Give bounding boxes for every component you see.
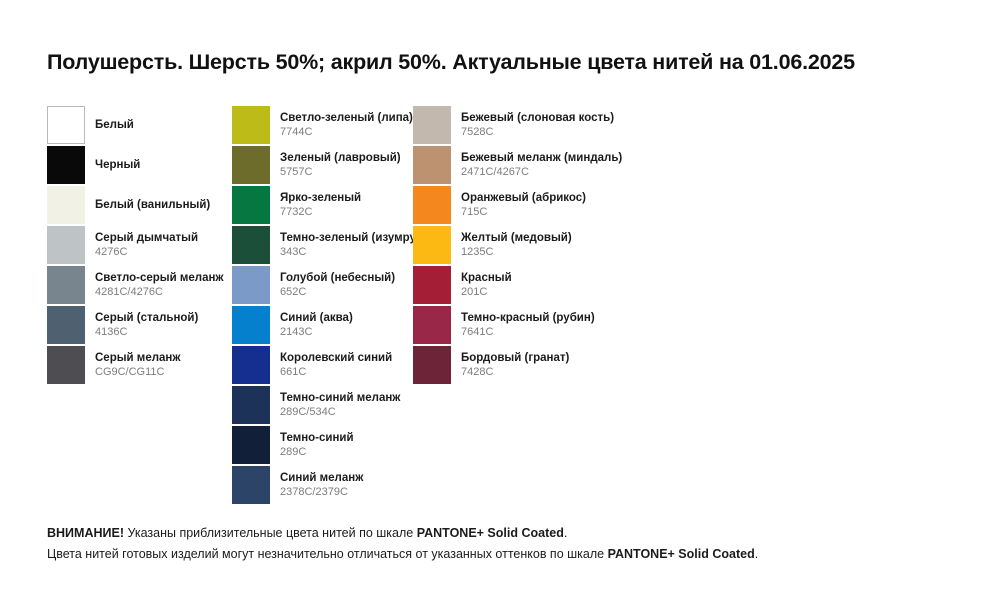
color-swatch: [47, 226, 85, 264]
color-swatch: [232, 386, 270, 424]
footer-line-2-text: Цвета нитей готовых изделий могут незнач…: [47, 547, 608, 561]
color-name: Серый дымчатый: [95, 231, 198, 245]
color-name: Синий (аква): [280, 311, 353, 325]
color-swatch: [232, 306, 270, 344]
swatch-labels: Светло-серый меланж4281C/4276C: [95, 266, 224, 304]
footer-pantone-label-2: PANTONE+ Solid Coated: [608, 547, 755, 561]
swatch-labels: Желтый (медовый)1235C: [461, 226, 572, 264]
swatch-labels: Белый: [95, 106, 134, 144]
pantone-code: 7528C: [461, 126, 614, 139]
color-name: Ярко-зеленый: [280, 191, 361, 205]
pantone-code: 1235C: [461, 246, 572, 259]
color-name: Темно-красный (рубин): [461, 311, 595, 325]
color-name: Голубой (небесный): [280, 271, 395, 285]
color-name: Бежевый меланж (миндаль): [461, 151, 622, 165]
swatch-labels: Серый дымчатый4276C: [95, 226, 198, 264]
color-swatch: [47, 106, 85, 144]
swatch-labels: Бежевый меланж (миндаль)2471C/4267C: [461, 146, 622, 184]
color-name: Белый (ванильный): [95, 198, 210, 212]
pantone-code: 2378C/2379C: [280, 486, 363, 499]
swatch-labels: Бордовый (гранат)7428C: [461, 346, 569, 384]
footer-line-1-text: Указаны приблизительные цвета нитей по ш…: [124, 526, 417, 540]
color-swatch: [47, 306, 85, 344]
color-swatch: [47, 186, 85, 224]
pantone-code: 201C: [461, 286, 512, 299]
footer-line-1: ВНИМАНИЕ! Указаны приблизительные цвета …: [47, 523, 947, 544]
swatch-labels: Светло-зеленый (липа)7744C: [280, 106, 413, 144]
pantone-code: 2471C/4267C: [461, 166, 622, 179]
swatch-labels: Королевский синий661C: [280, 346, 392, 384]
color-swatch: [232, 266, 270, 304]
pantone-code: 715C: [461, 206, 586, 219]
pantone-code: 289C: [280, 446, 354, 459]
swatch-labels: Синий (аква)2143C: [280, 306, 353, 344]
swatch-labels: Темно-красный (рубин)7641C: [461, 306, 595, 344]
pantone-code: 7428C: [461, 366, 569, 379]
pantone-code: 4136C: [95, 326, 198, 339]
footer-line-2: Цвета нитей готовых изделий могут незнач…: [47, 544, 947, 565]
color-name: Оранжевый (абрикос): [461, 191, 586, 205]
color-chart-page: Полушерсть. Шерсть 50%; акрил 50%. Актуа…: [0, 0, 1000, 609]
color-swatch: [232, 226, 270, 264]
color-swatch: [232, 346, 270, 384]
swatch-labels: Оранжевый (абрикос)715C: [461, 186, 586, 224]
swatch-labels: Белый (ванильный): [95, 186, 210, 224]
color-swatch: [47, 266, 85, 304]
color-name: Серый меланж: [95, 351, 181, 365]
color-name: Темно-синий: [280, 431, 354, 445]
swatch-labels: Ярко-зеленый7732C: [280, 186, 361, 224]
color-name: Бежевый (слоновая кость): [461, 111, 614, 125]
pantone-code: CG9C/CG11C: [95, 366, 181, 379]
color-name: Зеленый (лавровый): [280, 151, 401, 165]
color-name: Белый: [95, 118, 134, 132]
color-name: Светло-серый меланж: [95, 271, 224, 285]
color-swatch: [232, 426, 270, 464]
pantone-code: 7744C: [280, 126, 413, 139]
footer-attention-label: ВНИМАНИЕ!: [47, 526, 124, 540]
color-swatch: [413, 266, 451, 304]
color-swatch: [413, 346, 451, 384]
color-swatch: [413, 226, 451, 264]
pantone-code: 661C: [280, 366, 392, 379]
pantone-code: 652C: [280, 286, 395, 299]
pantone-code: 343C: [280, 246, 427, 259]
footer-pantone-label-1: PANTONE+ Solid Coated: [417, 526, 564, 540]
color-swatch: [413, 186, 451, 224]
color-swatch: [232, 466, 270, 504]
pantone-code: 7641C: [461, 326, 595, 339]
footer-line-2-end: .: [755, 547, 758, 561]
footer-line-1-end: .: [564, 526, 567, 540]
color-swatch: [47, 346, 85, 384]
swatch-labels: Красный201C: [461, 266, 512, 304]
color-name: Темно-синий меланж: [280, 391, 400, 405]
swatch-labels: Синий меланж2378C/2379C: [280, 466, 363, 504]
color-name: Светло-зеленый (липа): [280, 111, 413, 125]
swatch-labels: Бежевый (слоновая кость)7528C: [461, 106, 614, 144]
color-name: Бордовый (гранат): [461, 351, 569, 365]
color-swatch: [47, 146, 85, 184]
color-swatch: [232, 186, 270, 224]
swatch-labels: Зеленый (лавровый)5757C: [280, 146, 401, 184]
color-name: Синий меланж: [280, 471, 363, 485]
color-swatch: [413, 106, 451, 144]
swatch-labels: Серый (стальной)4136C: [95, 306, 198, 344]
color-name: Желтый (медовый): [461, 231, 572, 245]
pantone-code: 7732C: [280, 206, 361, 219]
color-swatch: [232, 146, 270, 184]
color-name: Серый (стальной): [95, 311, 198, 325]
color-swatch: [413, 306, 451, 344]
pantone-code: 5757C: [280, 166, 401, 179]
color-name: Черный: [95, 158, 140, 172]
color-name: Темно-зеленый (изумруд): [280, 231, 427, 245]
swatch-labels: Темно-синий289C: [280, 426, 354, 464]
color-swatch: [232, 106, 270, 144]
swatch-labels: Темно-зеленый (изумруд)343C: [280, 226, 427, 264]
color-name: Красный: [461, 271, 512, 285]
pantone-code: 2143C: [280, 326, 353, 339]
pantone-code: 4281C/4276C: [95, 286, 224, 299]
swatch-labels: Темно-синий меланж289C/534C: [280, 386, 400, 424]
swatch-labels: Голубой (небесный)652C: [280, 266, 395, 304]
pantone-code: 289C/534C: [280, 406, 400, 419]
swatch-labels: Черный: [95, 146, 140, 184]
footer-notes: ВНИМАНИЕ! Указаны приблизительные цвета …: [47, 523, 947, 565]
pantone-code: 4276C: [95, 246, 198, 259]
color-name: Королевский синий: [280, 351, 392, 365]
color-swatch: [413, 146, 451, 184]
page-title: Полушерсть. Шерсть 50%; акрил 50%. Актуа…: [47, 50, 855, 75]
swatch-labels: Серый меланжCG9C/CG11C: [95, 346, 181, 384]
